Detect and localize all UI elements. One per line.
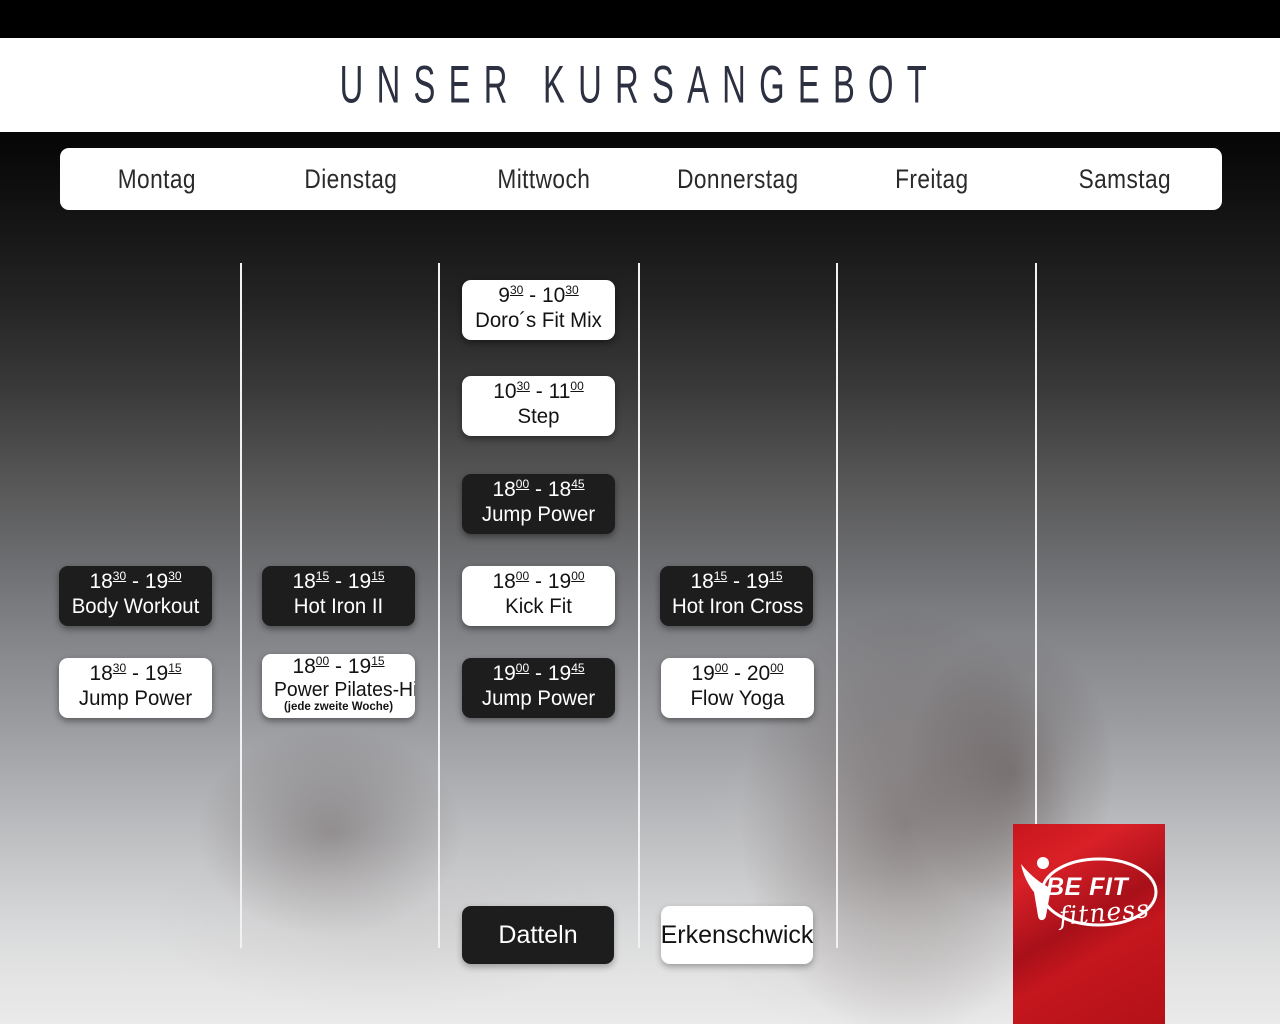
- class-name: Jump Power: [474, 687, 603, 711]
- class-time: 1815 - 1915: [272, 571, 405, 593]
- class-name: Hot Iron Cross: [672, 595, 801, 619]
- class-time: 1030 - 1100: [472, 381, 605, 403]
- class-card[interactable]: 930 - 1030 Doro´s Fit Mix: [462, 280, 615, 340]
- class-card[interactable]: 1800 - 1845 Jump Power: [462, 474, 615, 534]
- class-name: Doro´s Fit Mix: [474, 309, 603, 333]
- tab-freitag[interactable]: Freitag: [850, 164, 1013, 195]
- class-name: Kick Fit: [474, 595, 603, 619]
- schedule-page: UNSER KURSANGEBOT Montag Dienstag Mittwo…: [0, 0, 1280, 1024]
- legend-label: Datteln: [498, 921, 577, 950]
- class-name: Jump Power: [474, 503, 603, 527]
- class-note: (jede zweite Woche): [272, 701, 405, 714]
- column-divider-4: [836, 263, 838, 948]
- legend-card-datteln[interactable]: Datteln: [462, 906, 614, 964]
- class-card[interactable]: 1815 - 1915 Hot Iron II: [262, 566, 415, 626]
- class-time: 1900 - 1945: [472, 663, 605, 685]
- class-card[interactable]: 1030 - 1100 Step: [462, 376, 615, 436]
- class-time: 1900 - 2000: [671, 663, 804, 685]
- class-card[interactable]: 1800 - 1900 Kick Fit: [462, 566, 615, 626]
- class-card[interactable]: 1900 - 2000 Flow Yoga: [661, 658, 814, 718]
- day-tab-bar[interactable]: Montag Dienstag Mittwoch Donnerstag Frei…: [60, 148, 1222, 210]
- class-name: Step: [474, 405, 603, 429]
- class-time: 1830 - 1915: [69, 663, 202, 685]
- tab-donnerstag[interactable]: Donnerstag: [657, 164, 820, 195]
- column-divider-2: [438, 263, 440, 948]
- legend-label: Erkenschwick: [661, 921, 814, 950]
- class-time: 1815 - 1915: [670, 571, 803, 593]
- title-band: UNSER KURSANGEBOT: [0, 38, 1280, 132]
- top-black-bar: [0, 0, 1280, 38]
- tab-mittwoch[interactable]: Mittwoch: [463, 164, 626, 195]
- class-time: 930 - 1030: [472, 285, 605, 307]
- class-time: 1800 - 1915: [272, 656, 405, 678]
- class-name: Power Pilates-Hiit: [274, 679, 403, 702]
- legend-card-erkenschwick[interactable]: Erkenschwick: [661, 906, 813, 964]
- class-name: Hot Iron II: [274, 595, 403, 619]
- tab-montag[interactable]: Montag: [75, 164, 238, 195]
- class-time: 1830 - 1930: [69, 571, 202, 593]
- class-card[interactable]: 1800 - 1915 Power Pilates-Hiit (jede zwe…: [262, 654, 415, 718]
- class-time: 1800 - 1845: [472, 479, 605, 501]
- class-name: Body Workout: [71, 595, 200, 619]
- column-divider-1: [240, 263, 242, 948]
- class-card[interactable]: 1830 - 1915 Jump Power: [59, 658, 212, 718]
- tab-dienstag[interactable]: Dienstag: [269, 164, 432, 195]
- class-card[interactable]: 1815 - 1915 Hot Iron Cross: [660, 566, 813, 626]
- class-card[interactable]: 1830 - 1930 Body Workout: [59, 566, 212, 626]
- class-name: Jump Power: [71, 687, 200, 711]
- class-name: Flow Yoga: [673, 687, 802, 711]
- column-divider-3: [638, 263, 640, 948]
- class-time: 1800 - 1900: [472, 571, 605, 593]
- class-card[interactable]: 1900 - 1945 Jump Power: [462, 658, 615, 718]
- page-title: UNSER KURSANGEBOT: [340, 55, 940, 115]
- brand-logo-panel[interactable]: BE FIT fitness: [1013, 824, 1165, 1024]
- tab-samstag[interactable]: Samstag: [1044, 164, 1207, 195]
